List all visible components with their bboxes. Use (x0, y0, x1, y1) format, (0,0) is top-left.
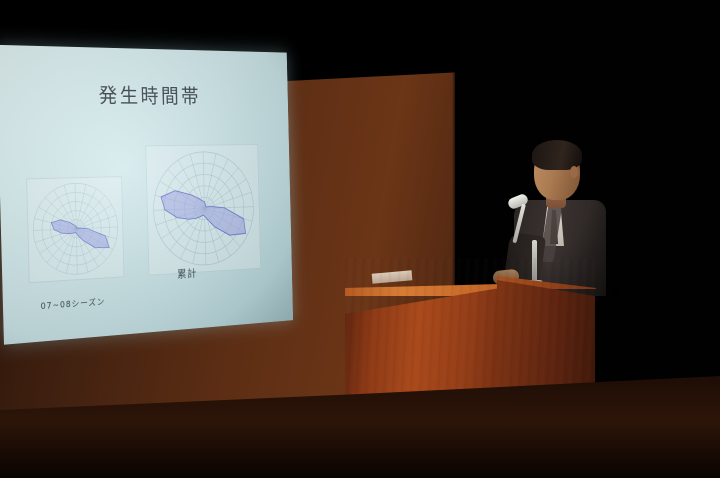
radar-chart-cumulative (145, 144, 261, 276)
slide-surface: 発生時間帯 (0, 45, 293, 345)
microphone-gooseneck (512, 204, 526, 244)
caption-left: 07~08シーズン (41, 296, 106, 312)
microphone-head-icon (507, 193, 530, 211)
auditorium-scene: 発生時間帯 (0, 0, 720, 478)
slide-title: 発生時間帯 (0, 79, 288, 110)
charts-area (0, 138, 292, 300)
radar-chart-season-svg (27, 177, 124, 282)
radar-chart-season (26, 176, 124, 283)
radar-chart-cumulative-svg (146, 145, 260, 275)
caption-right: 累計 (177, 265, 197, 281)
ear (570, 166, 578, 178)
floor-shadow (0, 426, 720, 478)
projection-screen: 発生時間帯 (0, 45, 293, 345)
